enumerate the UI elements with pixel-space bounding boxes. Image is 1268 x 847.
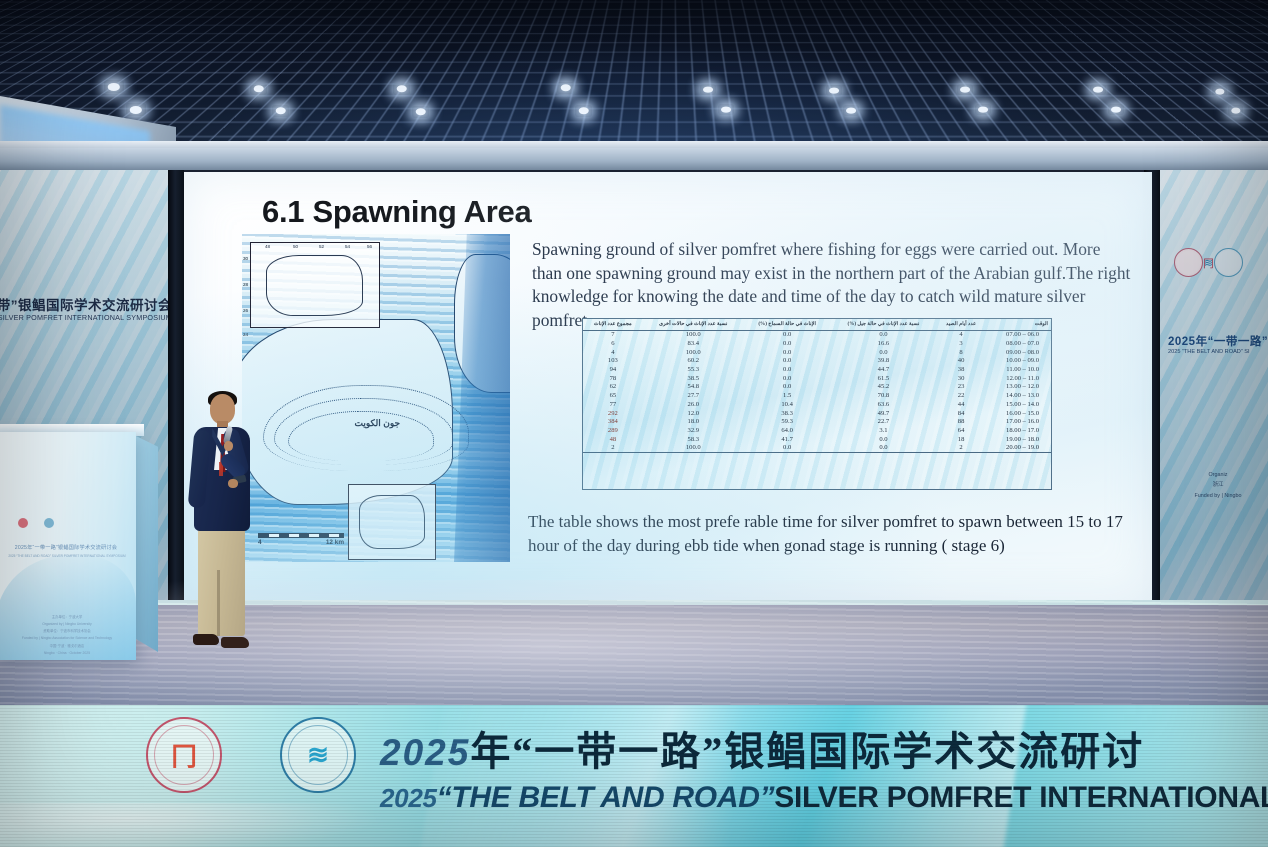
table-cell: 70.8 [830, 391, 936, 400]
table-cell: 39.8 [830, 357, 936, 366]
table-cell: 11.00 – 10.0 [986, 365, 1051, 374]
spotlight-lamp [1093, 86, 1103, 93]
ceiling-spotlight [250, 83, 267, 95]
table-row: 10360.20.039.84010.00 – 09.0 [583, 357, 1051, 366]
ceiling-spotlight [1090, 84, 1106, 95]
table-cell: 384 [583, 417, 643, 426]
podium-place-en: Ningbo · China · October 2025 [6, 650, 128, 657]
table-cell: 30 [936, 374, 985, 383]
ceiling-spotlight [575, 105, 592, 117]
table-cell: 48 [583, 435, 643, 444]
podium-side-face [136, 436, 158, 652]
table-cell: 60.2 [643, 357, 744, 366]
map-lon-tick: 52 [319, 244, 324, 249]
spotlight-lamp [415, 108, 426, 115]
map-bay-label: جون الكويت [355, 418, 401, 429]
ceiling-spotlight [272, 105, 289, 117]
spotlight-lamp [108, 82, 120, 90]
ceiling-spotlight [843, 105, 859, 116]
table-cell: 2 [936, 443, 985, 452]
podium-ningbo-seal-icon [18, 518, 28, 528]
conference-hall-photo: 一带”银鲳国际学术交流研讨会 D “SILVER POMFRET INTERNA… [0, 0, 1268, 847]
speaker-hand-mic [224, 441, 233, 451]
table-cell: 100.0 [643, 443, 744, 452]
table-cell: 38.3 [744, 409, 831, 418]
table-cell: 22 [936, 391, 985, 400]
table-row: 7838.50.061.53012.00 – 11.0 [583, 374, 1051, 383]
podium-logos [18, 518, 54, 528]
spotlight-lamp [396, 85, 407, 92]
table-cell: 20.00 – 19.0 [986, 443, 1051, 452]
ceiling-spotlight [557, 82, 574, 94]
table-cell: 07.00 – 06.0 [986, 330, 1051, 339]
map-lon-tick: 56 [367, 244, 372, 249]
speaker-shoe-right [221, 637, 249, 648]
table-cell: 292 [583, 409, 643, 418]
ceiling-spotlight [826, 85, 842, 96]
table-cell: 18 [936, 435, 985, 444]
table-cell: 14.00 – 13.0 [986, 391, 1051, 400]
table-row: 28932.964.03.16418.00 – 17.0 [583, 426, 1051, 435]
table-cell: 12.00 – 11.0 [986, 374, 1051, 383]
table-cell: 289 [583, 426, 643, 435]
map-lat-tick: 24 [243, 332, 248, 337]
table-cell: 16.6 [830, 339, 936, 348]
table-row: 9455.30.044.73811.00 – 10.0 [583, 365, 1051, 374]
table-cell: 18.00 – 17.0 [986, 426, 1051, 435]
spotlight-lamp [703, 86, 713, 93]
scale-max-label: 12 km [326, 539, 344, 546]
spotlight-lamp [560, 84, 571, 91]
table-row: 683.40.016.6308.00 – 07.0 [583, 339, 1051, 348]
spotlight-lamp [1111, 106, 1121, 113]
table-cell: 26.0 [643, 400, 744, 409]
table-row: 7726.010.463.64415.00 – 14.0 [583, 400, 1051, 409]
right-wall-panel: 冂 ≋ 2025年“一带一路” 2025 “THE BELT AND ROAD”… [1160, 170, 1268, 605]
table-cell: 58.3 [643, 435, 744, 444]
table-cell: 0.0 [830, 348, 936, 357]
table-cell: 94 [583, 365, 643, 374]
scale-min-label: 4 [258, 539, 262, 546]
table-cell: 45.2 [830, 383, 936, 392]
table-cell: 1.5 [744, 391, 831, 400]
speaker-trousers [198, 526, 245, 636]
map-lat-tick: 26 [243, 308, 248, 313]
table-cell: 0.0 [744, 357, 831, 366]
table-column-header: عدد أيام الصيد [936, 319, 985, 330]
led-stage-banner: 冂 ≋ 2025年“一带一路”银鲳国际学术交流研讨 2025“THE BELT … [0, 705, 1268, 847]
slide-paragraph-bottom: The table shows the most prefe rable tim… [528, 510, 1138, 558]
ceiling-spotlight [412, 106, 429, 118]
ceiling-spotlight [718, 104, 734, 115]
table-cell: 23 [936, 383, 985, 392]
table-cell: 38 [936, 365, 985, 374]
map-lon-tick: 54 [345, 244, 350, 249]
table-cell: 0.0 [744, 365, 831, 374]
podium-funder-en: Funded by | Ningbo Association for Scien… [6, 635, 128, 642]
speaker-hand-clicker [228, 479, 238, 488]
table-cell: 49.7 [830, 409, 936, 418]
table-cell: 64 [936, 426, 985, 435]
table-cell: 78 [583, 374, 643, 383]
table-cell: 84 [936, 409, 985, 418]
spotlight-lamp [846, 107, 856, 114]
table-cell: 7 [583, 330, 643, 339]
map-scale-bar: 4 12 km [258, 533, 344, 546]
podium-title-cn: 2025年“一带一路”银鲳国际学术交流研讨会 [8, 544, 124, 551]
podium-credits: 主办单位：宁波大学 Organized by | Ningbo Universi… [6, 614, 128, 657]
speaker-trouser-seam [217, 570, 220, 636]
podium: 2025年“一带一路”银鲳国际学术交流研讨会 2025 “THE BELT AN… [0, 432, 136, 660]
spotlight-lamp [1215, 88, 1224, 95]
table-cell: 6 [583, 339, 643, 348]
led-scanline-overlay [0, 705, 1268, 847]
map-inset-outline [359, 495, 425, 549]
table-cell: 77 [583, 400, 643, 409]
ceiling-spotlight [1108, 104, 1124, 115]
table-cell: 12.0 [643, 409, 744, 418]
table-cell: 0.0 [830, 443, 936, 452]
table-cell: 17.00 – 16.0 [986, 417, 1051, 426]
table-cell: 44.7 [830, 365, 936, 374]
table-cell: 18.0 [643, 417, 744, 426]
spotlight-lamp [130, 105, 142, 113]
table-row: 2100.00.00.0220.00 – 19.0 [583, 443, 1051, 452]
map-lon-tick: 48 [265, 244, 270, 249]
table-cell: 0.0 [744, 330, 831, 339]
table-cell: 13.00 – 12.0 [986, 383, 1051, 392]
table-cell: 3.1 [830, 426, 936, 435]
table-row: 6527.71.570.82214.00 – 13.0 [583, 391, 1051, 400]
table-cell: 16.00 – 15.0 [986, 409, 1051, 418]
table-cell: 88 [936, 417, 985, 426]
table-cell: 63.6 [830, 400, 936, 409]
scale-bar-graphic [258, 533, 344, 538]
podium-place-cn: 中国·宁波 · 雅戈尔酒店 [6, 643, 128, 650]
table-cell: 8 [936, 348, 985, 357]
map-inset-detail [348, 484, 436, 560]
table-cell: 59.3 [744, 417, 831, 426]
table-column-header: نسبة عدد الإناث في حالة جيل (%) [830, 319, 936, 330]
spotlight-lamp [829, 87, 839, 94]
speaker-shoe-left [193, 634, 219, 645]
ceiling-spotlight [393, 83, 410, 95]
projection-screen: 6.1 Spawning Area جون الكويت 48 50 52 54… [184, 172, 1152, 600]
ceiling-spotlight [1212, 86, 1227, 97]
podium-organizer-cn: 主办单位：宁波大学 [6, 614, 128, 621]
podium-funder-cn: 资助单位：宁波市科学技术协会 [6, 628, 128, 635]
table-cell: 0.0 [744, 383, 831, 392]
map-inset-outline [266, 255, 363, 316]
table-cell: 19.00 – 18.0 [986, 435, 1051, 444]
screen-divider-left [168, 170, 184, 605]
table-cell: 27.7 [643, 391, 744, 400]
table-cell: 40 [936, 357, 985, 366]
podium-title-en: 2025 “THE BELT AND ROAD” SILVER POMFRET … [6, 554, 128, 558]
table-cell: 100.0 [643, 330, 744, 339]
spotlight-lamp [721, 106, 731, 113]
ceiling-spotlight [104, 80, 124, 93]
right-panel-shading [1160, 170, 1268, 605]
table-column-header: مجموع عدد الإناث [583, 319, 643, 330]
spotlight-lamp [978, 106, 988, 113]
stage-floor [0, 600, 1268, 710]
table-row: 29212.038.349.78416.00 – 15.0 [583, 409, 1051, 418]
table-row: 4100.00.00.0809.00 – 08.0 [583, 348, 1051, 357]
ceiling-spotlight [700, 84, 716, 95]
table-row: 6254.80.045.22313.00 – 12.0 [583, 383, 1051, 392]
table-cell: 0.0 [744, 339, 831, 348]
table-cell: 38.5 [643, 374, 744, 383]
table-header: مجموع عدد الإناثنسبة عدد الإناث في حالات… [583, 319, 1051, 330]
table-cell: 32.9 [643, 426, 744, 435]
spawning-time-table: مجموع عدد الإناثنسبة عدد الإناث في حالات… [582, 318, 1052, 490]
table-header-row: مجموع عدد الإناثنسبة عدد الإناث في حالات… [583, 319, 1051, 330]
speaker-head [210, 394, 235, 424]
ceiling-trim [0, 148, 1268, 172]
slide-title: 6.1 Spawning Area [262, 194, 531, 230]
table-cell: 2 [583, 443, 643, 452]
podium-organizer-en: Organized by | Ningbo University [6, 621, 128, 628]
ceiling-spotlight [975, 104, 991, 115]
data-table: مجموع عدد الإناثنسبة عدد الإناث في حالات… [583, 319, 1051, 453]
table-cell: 09.00 – 08.0 [986, 348, 1051, 357]
spawning-area-map: جون الكويت 48 50 52 54 56 30 28 26 24 4 … [242, 234, 510, 562]
table-cell: 65 [583, 391, 643, 400]
table-cell: 0.0 [744, 443, 831, 452]
table-cell: 3 [936, 339, 985, 348]
spotlight-lamp [275, 107, 286, 114]
table-column-header: نسبة عدد الإناث في حالات أخرى [643, 319, 744, 330]
map-lat-tick: 30 [243, 256, 248, 261]
map-lat-tick: 28 [243, 282, 248, 287]
table-cell: 62 [583, 383, 643, 392]
table-cell: 08.00 – 07.0 [986, 339, 1051, 348]
spotlight-lamp [960, 86, 970, 93]
table-cell: 15.00 – 14.0 [986, 400, 1051, 409]
ceiling-spotlight [126, 103, 146, 116]
ceiling-spotlight [957, 84, 973, 95]
table-cell: 55.3 [643, 365, 744, 374]
table-cell: 103 [583, 357, 643, 366]
table-cell: 44 [936, 400, 985, 409]
podium-marine-seal-icon [44, 518, 54, 528]
table-cell: 4 [936, 330, 985, 339]
table-cell: 0.0 [744, 348, 831, 357]
table-cell: 100.0 [643, 348, 744, 357]
spotlight-lamp [1231, 107, 1240, 114]
table-cell: 61.5 [830, 374, 936, 383]
table-body: 7100.00.00.0407.00 – 06.0683.40.016.6308… [583, 330, 1051, 453]
table-cell: 64.0 [744, 426, 831, 435]
table-cell: 0.0 [830, 435, 936, 444]
spotlight-lamp [578, 107, 589, 114]
table-row: 38418.059.322.78817.00 – 16.0 [583, 417, 1051, 426]
table-row: 4858.341.70.01819.00 – 18.0 [583, 435, 1051, 444]
table-cell: 10.4 [744, 400, 831, 409]
table-cell: 4 [583, 348, 643, 357]
table-column-header: الوقت [986, 319, 1051, 330]
ceiling [0, 0, 1268, 172]
map-inset-region: 48 50 52 54 56 [250, 242, 380, 328]
table-cell: 83.4 [643, 339, 744, 348]
spotlight-lamp [253, 85, 264, 92]
speaker [192, 394, 252, 660]
table-cell: 54.8 [643, 383, 744, 392]
table-cell: 0.0 [744, 374, 831, 383]
ceiling-spotlight [1228, 105, 1243, 116]
table-cell: 22.7 [830, 417, 936, 426]
table-cell: 41.7 [744, 435, 831, 444]
map-lon-tick: 50 [293, 244, 298, 249]
table-cell: 0.0 [830, 330, 936, 339]
table-column-header: الإناث في حالة السماح (%) [744, 319, 831, 330]
table-cell: 10.00 – 09.0 [986, 357, 1051, 366]
table-row: 7100.00.00.0407.00 – 06.0 [583, 330, 1051, 339]
